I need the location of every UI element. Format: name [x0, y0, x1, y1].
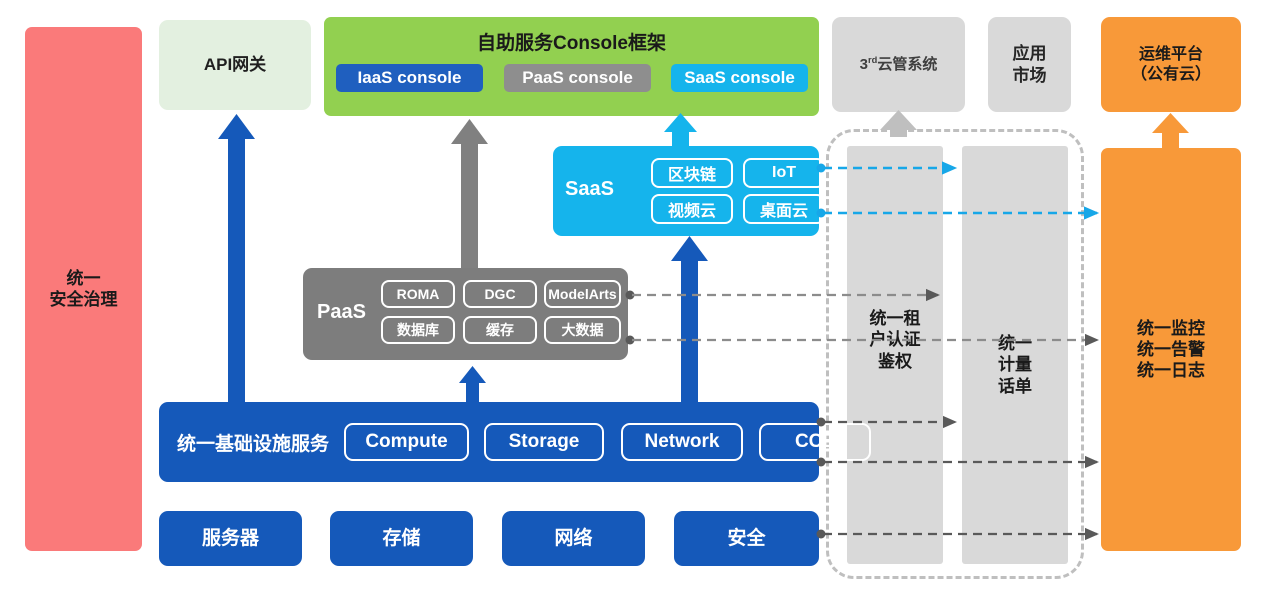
unified-metering-billing-label: 统一 计量 话单: [998, 333, 1032, 397]
hardware-item-security[interactable]: 安全: [674, 511, 819, 566]
infra-item-cce-label: CCE: [795, 431, 835, 453]
application-market-label: 应用 市场: [1013, 43, 1047, 86]
paas-item-roma[interactable]: ROMA: [381, 280, 455, 308]
arrow-ops-pillar-to-ops-platform: [1152, 113, 1189, 148]
paas-item-dgc-label: DGC: [484, 286, 515, 302]
infra-item-compute[interactable]: Compute: [344, 423, 469, 461]
paas-console-label: PaaS console: [522, 68, 633, 88]
unified-security-governance-label: 统一 安全治理: [50, 268, 118, 311]
hardware-item-network-label: 网络: [554, 527, 592, 551]
arrow-paas-to-console: [451, 119, 488, 268]
saas-item-iot-label: IoT: [772, 164, 796, 182]
saas-item-video-cloud[interactable]: 视频云: [651, 194, 733, 224]
infra-item-compute-label: Compute: [365, 431, 447, 453]
third-party-prefix: 3: [860, 56, 868, 73]
third-party-suffix: 云管系统: [877, 56, 937, 73]
paas-item-cache[interactable]: 缓存: [463, 316, 537, 344]
saas-item-blockchain[interactable]: 区块链: [651, 158, 733, 188]
paas-item-database-label: 数据库: [397, 320, 439, 340]
unified-security-governance-pillar: 统一 安全治理: [25, 27, 142, 551]
self-service-console-framework: 自助服务Console框架 IaaS console PaaS console …: [324, 17, 819, 116]
arrow-infra-to-saas: [671, 236, 708, 402]
unified-infrastructure-service-title: 统一基础设施服务: [177, 429, 329, 456]
paas-block: PaaS ROMA DGC ModelArts 数据库 缓存 大数据: [303, 268, 628, 360]
hardware-item-storage[interactable]: 存储: [330, 511, 473, 566]
application-market-box: 应用 市场: [988, 17, 1071, 112]
saas-item-blockchain-label: 区块链: [668, 161, 716, 185]
ops-platform-public-cloud-box: 运维平台 （公有云）: [1101, 17, 1241, 112]
paas-item-dgc[interactable]: DGC: [463, 280, 537, 308]
infra-item-storage-label: Storage: [509, 431, 580, 453]
infra-item-cce[interactable]: CCE: [759, 423, 871, 461]
hardware-item-server[interactable]: 服务器: [159, 511, 302, 566]
unified-tenant-auth-pillar: 统一租 户认证 鉴权: [847, 146, 943, 564]
third-party-cloud-management-label: 3rd云管系统: [860, 55, 938, 75]
saas-item-video-cloud-label: 视频云: [668, 197, 716, 221]
iaas-console-label: IaaS console: [358, 68, 462, 88]
ops-platform-public-cloud-label: 运维平台 （公有云）: [1131, 45, 1211, 85]
third-party-cloud-management-box: 3rd云管系统: [832, 17, 965, 112]
paas-item-bigdata-label: 大数据: [562, 320, 604, 340]
saas-item-desktop-cloud-label: 桌面云: [760, 197, 808, 221]
paas-item-cache-label: 缓存: [486, 320, 514, 340]
infra-item-network-label: Network: [645, 431, 720, 453]
paas-item-roma-label: ROMA: [397, 286, 440, 302]
paas-console-chip[interactable]: PaaS console: [504, 64, 651, 92]
unified-metering-billing-pillar: 统一 计量 话单: [962, 146, 1068, 564]
unified-monitoring-alarm-log-label: 统一监控 统一告警 统一日志: [1137, 318, 1205, 382]
third-party-superscript: rd: [868, 55, 877, 65]
paas-item-modelarts[interactable]: ModelArts: [544, 280, 621, 308]
arrow-infra-to-paas: [459, 366, 486, 402]
hardware-item-security-label: 安全: [727, 527, 765, 551]
saas-item-desktop-cloud[interactable]: 桌面云: [743, 194, 825, 224]
paas-item-bigdata[interactable]: 大数据: [544, 316, 621, 344]
arrow-infra-to-api-gateway: [218, 114, 255, 402]
saas-console-chip[interactable]: SaaS console: [671, 64, 808, 92]
paas-item-database[interactable]: 数据库: [381, 316, 455, 344]
architecture-diagram: 统一 安全治理 API网关 自助服务Console框架 IaaS console…: [0, 0, 1265, 605]
paas-item-modelarts-label: ModelArts: [548, 286, 616, 302]
unified-monitoring-alarm-log-pillar: 统一监控 统一告警 统一日志: [1101, 148, 1241, 551]
saas-console-label: SaaS console: [684, 68, 795, 88]
saas-block: SaaS 区块链 IoT 视频云 桌面云: [553, 146, 819, 236]
saas-item-iot[interactable]: IoT: [743, 158, 825, 188]
iaas-console-chip[interactable]: IaaS console: [336, 64, 483, 92]
saas-block-title: SaaS: [565, 178, 614, 201]
unified-infrastructure-service-block: 统一基础设施服务 Compute Storage Network CCE: [159, 402, 819, 482]
arrow-saas-to-saas-console: [664, 113, 697, 146]
hardware-item-server-label: 服务器: [202, 527, 259, 551]
hardware-item-storage-label: 存储: [382, 527, 420, 551]
infra-item-network[interactable]: Network: [621, 423, 743, 461]
api-gateway-label: API网关: [204, 54, 266, 75]
infra-item-storage[interactable]: Storage: [484, 423, 604, 461]
console-framework-title: 自助服务Console框架: [324, 28, 819, 55]
paas-block-title: PaaS: [317, 301, 366, 324]
hardware-item-network[interactable]: 网络: [502, 511, 645, 566]
api-gateway-box: API网关: [159, 20, 311, 110]
unified-tenant-auth-label: 统一租 户认证 鉴权: [870, 308, 921, 372]
